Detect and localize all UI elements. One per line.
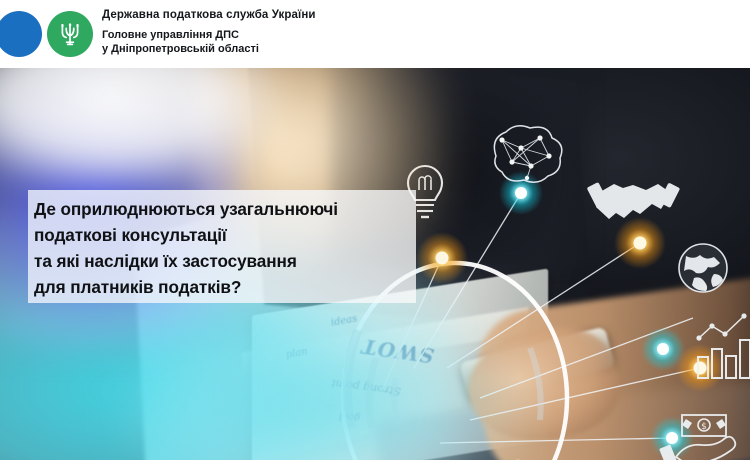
page-header: Державна податкова служба України Головн…	[0, 0, 750, 68]
title-line-4: для платників податків?	[34, 274, 424, 300]
organization-sub-line1: Головне управління ДПС	[102, 28, 522, 42]
organization-sub-line2: у Дніпропетровській області	[102, 42, 522, 56]
ukraine-trident-icon	[59, 21, 81, 47]
logo	[0, 8, 92, 60]
header-text-block: Державна податкова служба України Головн…	[102, 8, 522, 56]
title-line-3: та які наслідки їх застосування	[34, 248, 424, 274]
title-line-1: Де оприлюднюються узагальнюючі	[34, 196, 424, 222]
white-wash	[0, 68, 280, 188]
banner-title: Де оприлюднюються узагальнюючі податкові…	[34, 196, 424, 300]
title-line-2: податкові консультації	[34, 222, 424, 248]
green-circle-icon	[47, 11, 93, 57]
banner-root: SWOT Strong point ideas plan goal	[0, 0, 750, 460]
organization-title: Державна податкова служба України	[102, 8, 522, 23]
handshake-icon	[587, 182, 681, 219]
blue-circle-icon	[0, 11, 42, 57]
